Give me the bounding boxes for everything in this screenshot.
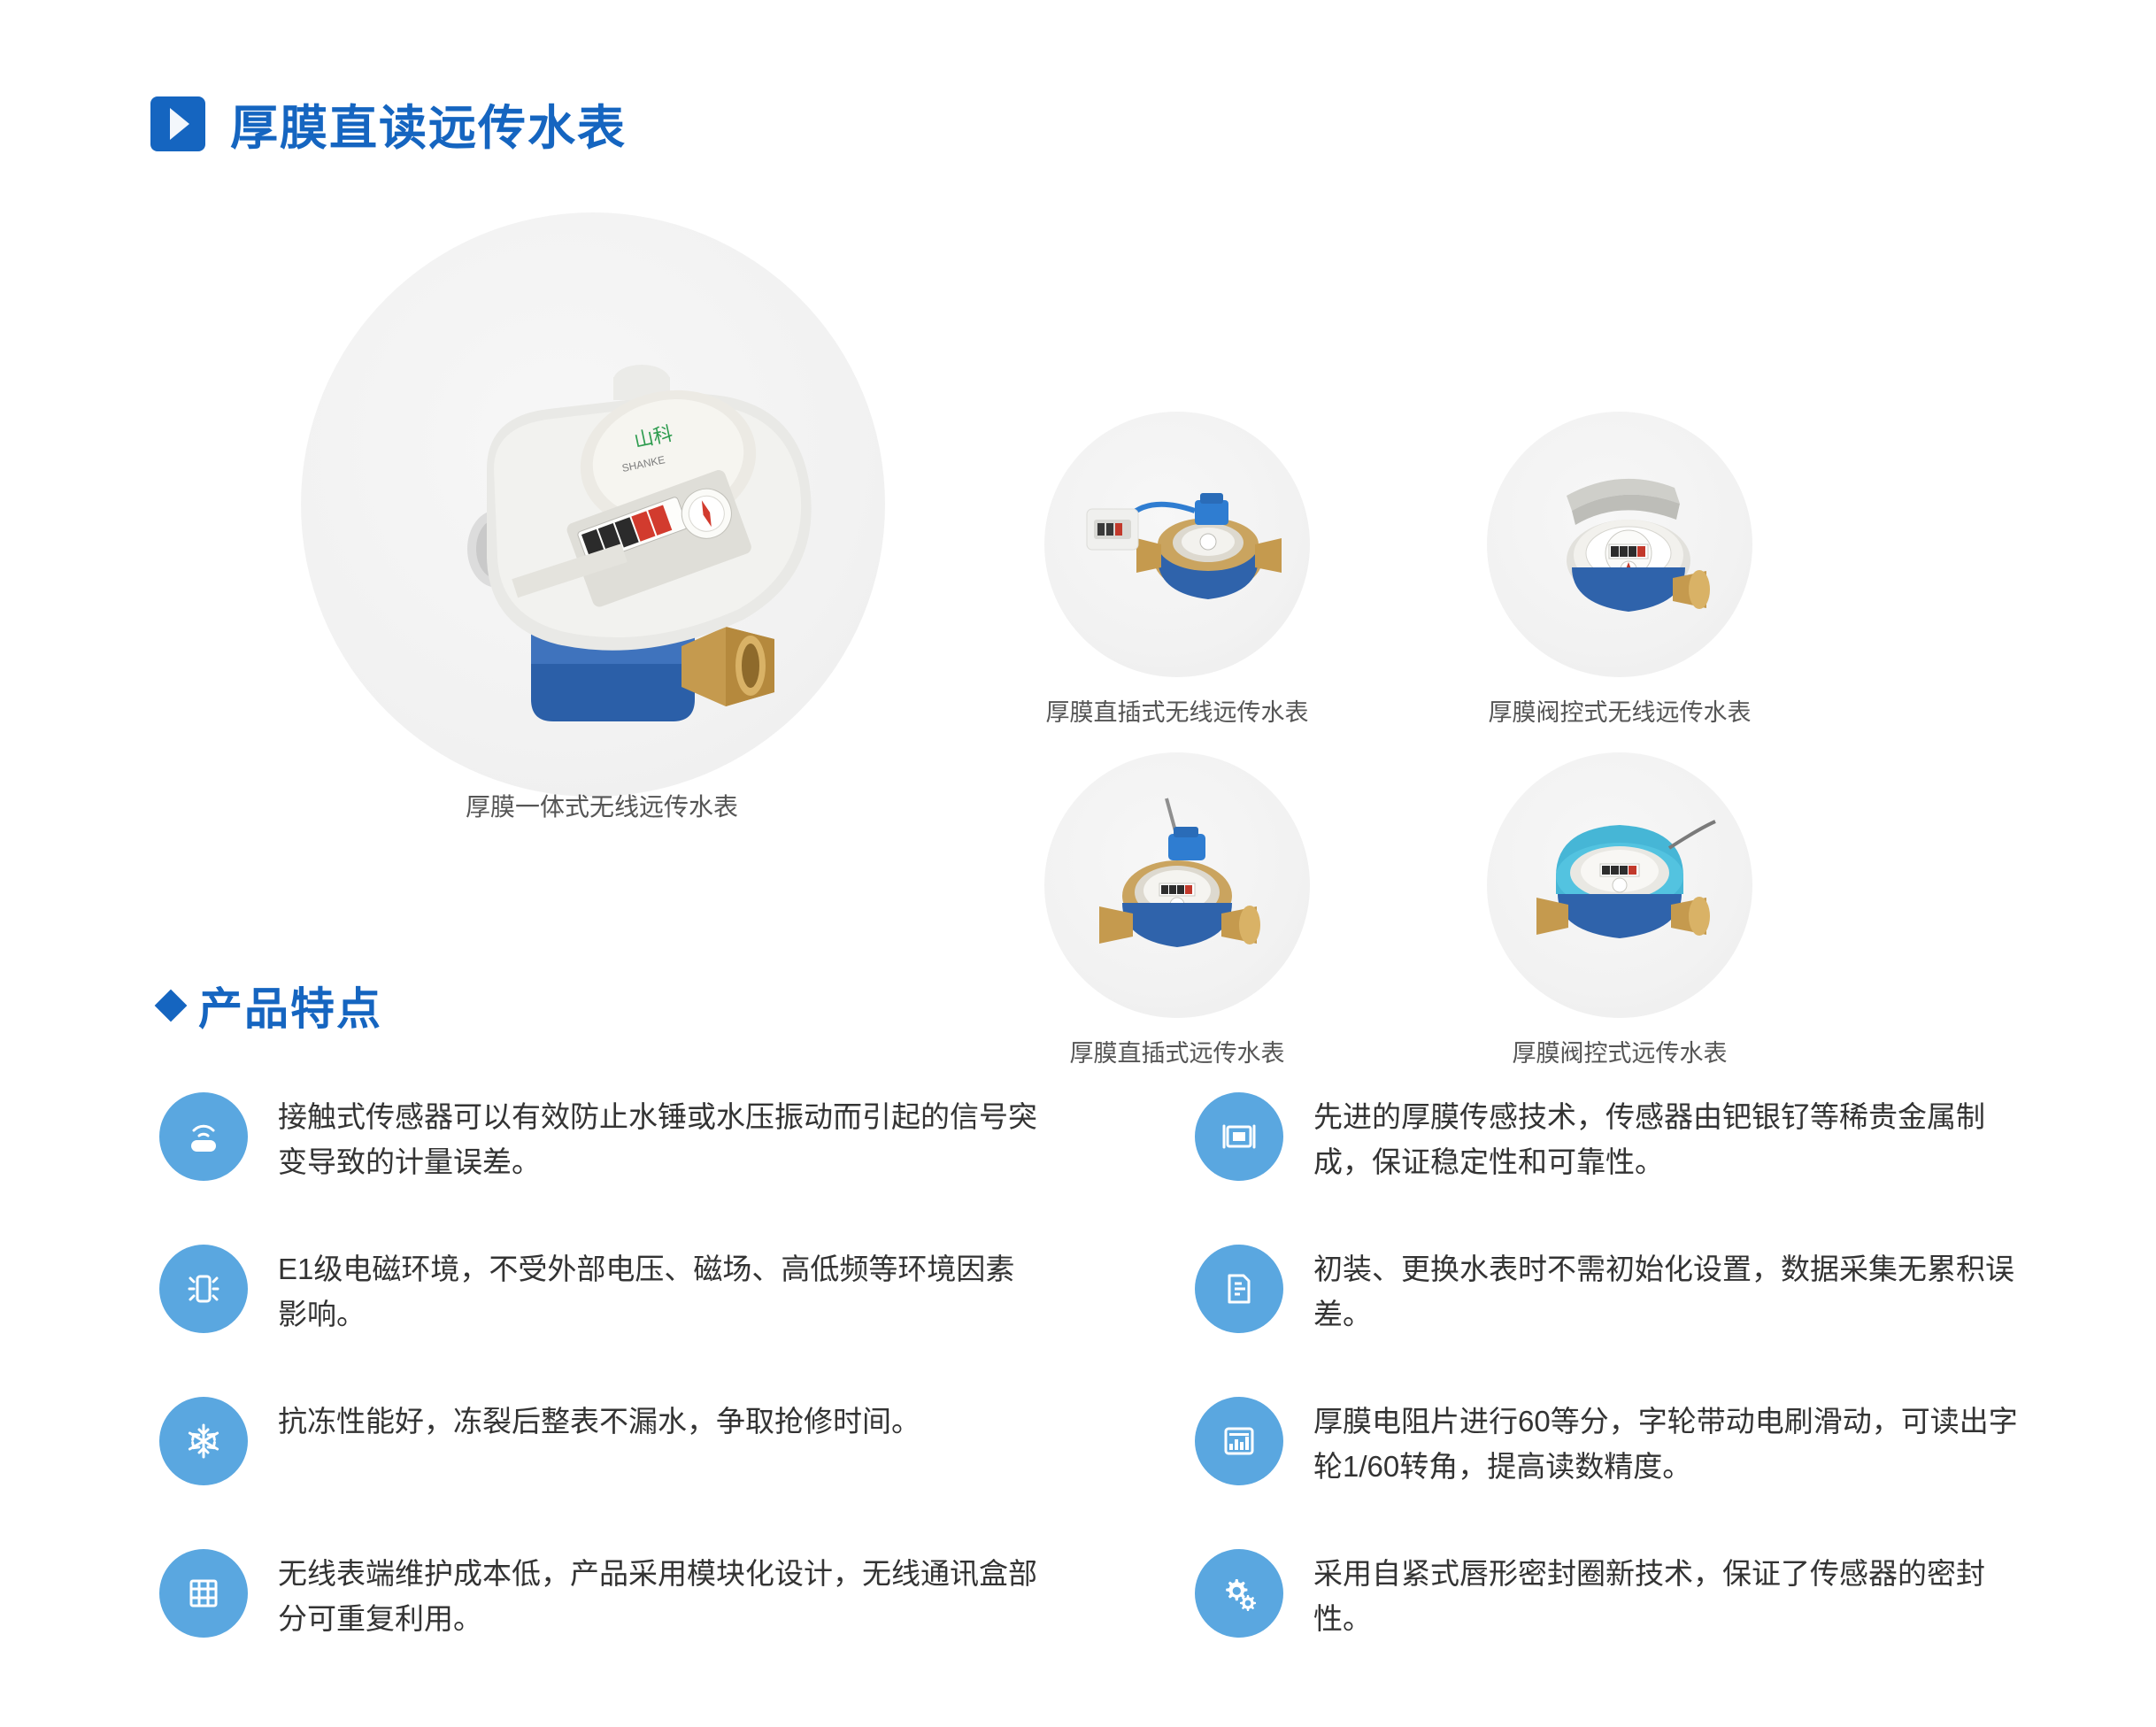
product-thumb-2: 厚膜阀控式无线远传水表 xyxy=(1487,412,1752,728)
thumb-backdrop-3 xyxy=(1044,752,1310,1018)
thumb-caption-2: 厚膜阀控式无线远传水表 xyxy=(1487,693,1752,728)
product-gallery: 山科 SHANKE xyxy=(0,177,2156,921)
product-thumb-3: 厚膜直插式远传水表 xyxy=(1044,752,1310,1068)
feature-text: 无线表端维护成本低，产品采用模块化设计，无线通讯盒部分可重复利用。 xyxy=(278,1546,1039,1641)
product-image-3 xyxy=(1044,752,1310,1018)
resistor-chart-icon xyxy=(1195,1397,1283,1485)
hero-product: 山科 SHANKE xyxy=(266,204,938,823)
document-data-icon xyxy=(1195,1245,1283,1333)
snowflake-icon xyxy=(159,1397,248,1485)
module-grid-icon xyxy=(159,1549,248,1638)
thumb-backdrop-1 xyxy=(1044,412,1310,677)
gears-icon xyxy=(1195,1549,1283,1638)
diamond-icon xyxy=(155,990,188,1022)
thumb-caption-1: 厚膜直插式无线远传水表 xyxy=(1044,693,1310,728)
page-title-row: 厚膜直读远传水表 xyxy=(150,89,627,158)
section-heading: 产品特点 xyxy=(159,974,382,1037)
feature-text: 初装、更换水表时不需初始化设置，数据采集无累积误差。 xyxy=(1313,1241,2039,1337)
feature-item: 厚膜电阻片进行60等分，字轮带动电刷滑动，可读出字轮1/60转角，提高读数精度。 xyxy=(1195,1393,2089,1546)
feature-item: E1级电磁环境，不受外部电压、磁场、高低频等环境因素影响。 xyxy=(159,1241,1133,1393)
section-title: 产品特点 xyxy=(198,974,382,1037)
thumb-caption-4: 厚膜阀控式远传水表 xyxy=(1487,1034,1752,1068)
feature-item: 采用自紧式唇形密封圈新技术，保证了传感器的密封性。 xyxy=(1195,1546,2089,1698)
product-thumb-4: 厚膜阀控式远传水表 xyxy=(1487,752,1752,1068)
emc-shield-icon xyxy=(159,1245,248,1333)
hero-caption: 厚膜一体式无线远传水表 xyxy=(266,788,938,823)
feature-text: 采用自紧式唇形密封圈新技术，保证了传感器的密封性。 xyxy=(1313,1546,2039,1641)
product-thumb-1: 厚膜直插式无线远传水表 xyxy=(1044,412,1310,728)
feature-item: 初装、更换水表时不需初始化设置，数据采集无累积误差。 xyxy=(1195,1241,2089,1393)
sensor-wifi-icon xyxy=(159,1092,248,1181)
feature-item: 接触式传感器可以有效防止水锤或水压振动而引起的信号突变导致的计量误差。 xyxy=(159,1089,1133,1241)
feature-text: 抗冻性能好，冻裂后整表不漏水，争取抢修时间。 xyxy=(278,1393,920,1444)
page-title: 厚膜直读远传水表 xyxy=(230,89,627,158)
feature-text: E1级电磁环境，不受外部电压、磁场、高低频等环境因素影响。 xyxy=(278,1241,1039,1337)
hero-product-image: 山科 SHANKE xyxy=(266,204,938,823)
feature-item: 先进的厚膜传感技术，传感器由钯银钌等稀贵金属制成，保证稳定性和可靠性。 xyxy=(1195,1089,2089,1241)
thumb-backdrop-2 xyxy=(1487,412,1752,677)
thumb-backdrop-4 xyxy=(1487,752,1752,1018)
feature-text: 厚膜电阻片进行60等分，字轮带动电刷滑动，可读出字轮1/60转角，提高读数精度。 xyxy=(1313,1393,2039,1489)
feature-text: 接触式传感器可以有效防止水锤或水压振动而引起的信号突变导致的计量误差。 xyxy=(278,1089,1039,1184)
thumb-caption-3: 厚膜直插式远传水表 xyxy=(1044,1034,1310,1068)
product-image-4 xyxy=(1487,752,1752,1018)
product-image-1 xyxy=(1044,412,1310,677)
product-image-2 xyxy=(1487,412,1752,677)
feature-item: 无线表端维护成本低，产品采用模块化设计，无线通讯盒部分可重复利用。 xyxy=(159,1546,1133,1698)
play-arrow-icon xyxy=(150,96,205,151)
thick-film-sensor-icon xyxy=(1195,1092,1283,1181)
feature-text: 先进的厚膜传感技术，传感器由钯银钌等稀贵金属制成，保证稳定性和可靠性。 xyxy=(1313,1089,2039,1184)
feature-list: 接触式传感器可以有效防止水锤或水压振动而引起的信号突变导致的计量误差。 先进的厚… xyxy=(159,1089,2027,1698)
feature-item: 抗冻性能好，冻裂后整表不漏水，争取抢修时间。 xyxy=(159,1393,1133,1546)
